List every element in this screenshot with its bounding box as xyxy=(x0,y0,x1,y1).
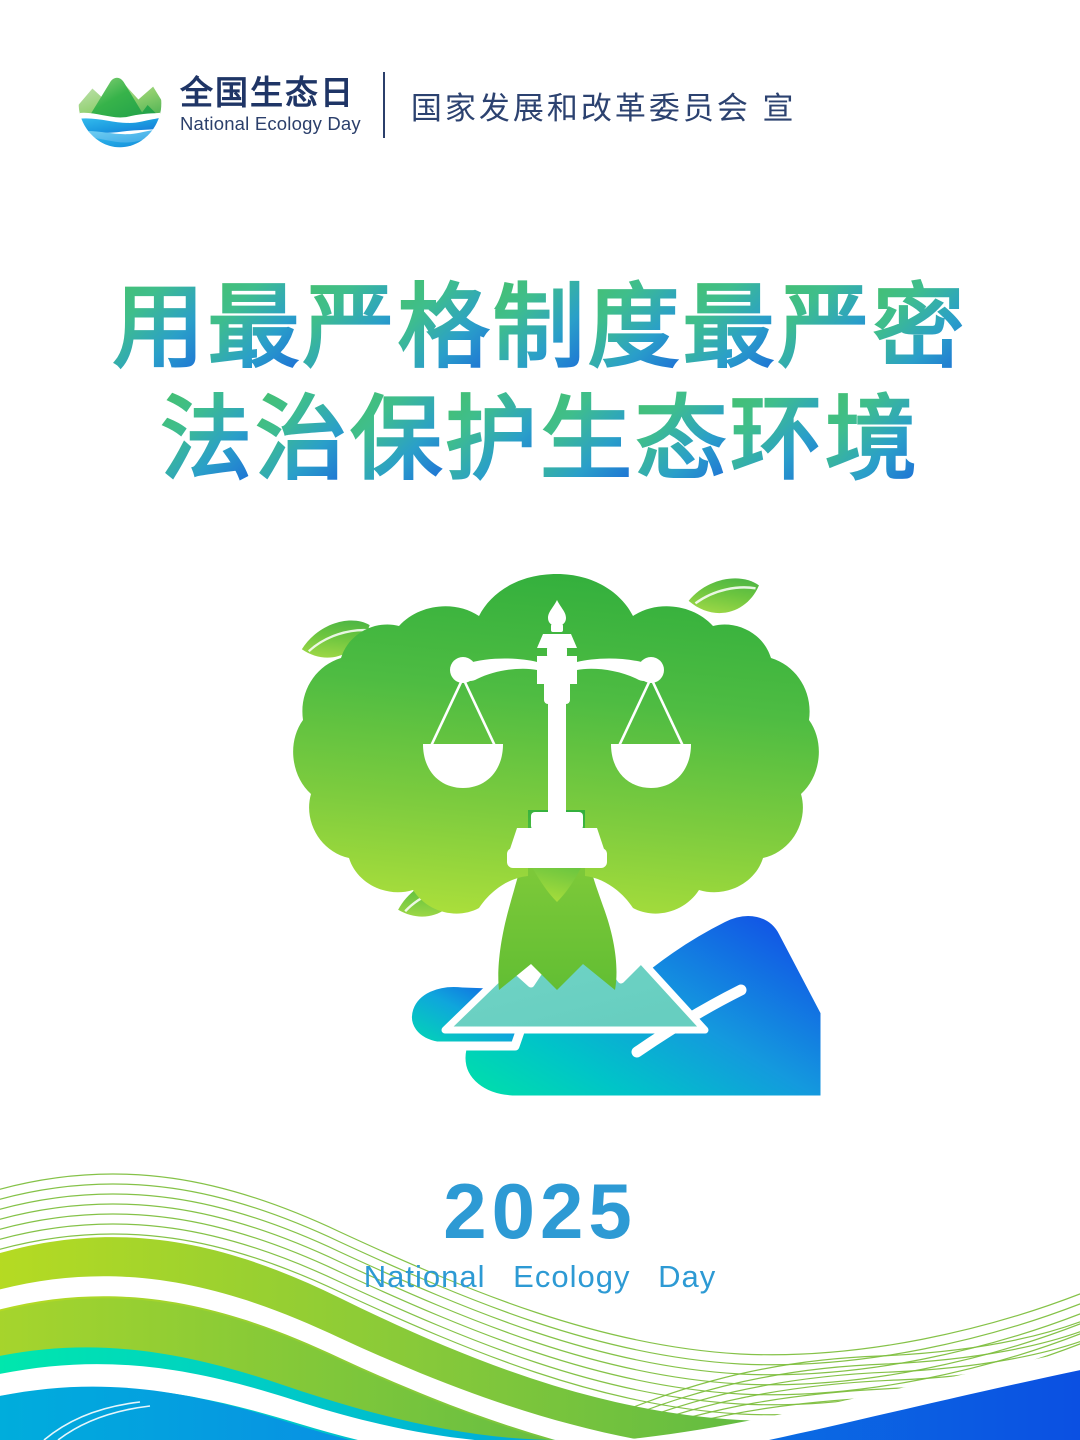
title-char: 态 xyxy=(635,384,730,496)
header-divider xyxy=(383,72,385,138)
title-char: 最 xyxy=(207,272,302,384)
footer-year-block: 2025 National Ecology Day xyxy=(0,1168,1080,1296)
title-line-2: 法治保护生态环境 xyxy=(0,384,1080,496)
poster-canvas: 全国生态日 National Ecology Day 国家发展和改革委员会 宣 … xyxy=(0,0,1080,1440)
title-char: 治 xyxy=(255,384,350,496)
title-char: 保 xyxy=(350,384,445,496)
title-line-2-text: 法治保护生态环境 xyxy=(160,389,920,491)
title-line-1-text: 用最严格制度最严密 xyxy=(112,277,967,379)
tree-scale-hand-illustration xyxy=(285,560,825,1100)
title-char: 密 xyxy=(873,272,968,384)
year-label: 2025 xyxy=(0,1168,1080,1254)
title-char: 最 xyxy=(683,272,778,384)
title-line-1: 用最严格制度最严密 xyxy=(0,272,1080,384)
leaf-top-right xyxy=(686,572,764,621)
title-char: 护 xyxy=(445,384,540,496)
title-char: 严 xyxy=(778,272,873,384)
poster-title: 用最严格制度最严密 法治保护生态环境 xyxy=(0,272,1080,496)
brand-text-group: 全国生态日 National Ecology Day xyxy=(180,66,361,144)
title-char: 生 xyxy=(540,384,635,496)
title-char: 格 xyxy=(397,272,492,384)
title-char: 度 xyxy=(588,272,683,384)
title-char: 制 xyxy=(492,272,587,384)
en-word-2: Ecology xyxy=(513,1259,630,1294)
en-word-1: National xyxy=(364,1259,486,1294)
brand-name-cn: 全国生态日 xyxy=(180,76,361,111)
publisher-label: 国家发展和改革委员会 宣 xyxy=(411,83,797,128)
title-char: 法 xyxy=(160,384,255,496)
year-en-label: National Ecology Day xyxy=(0,1258,1080,1296)
brand-name-en: National Ecology Day xyxy=(180,114,361,133)
title-char: 用 xyxy=(112,272,207,384)
title-char: 境 xyxy=(825,384,920,496)
title-char: 严 xyxy=(302,272,397,384)
mountain-water-logo-icon xyxy=(74,59,166,151)
title-char: 环 xyxy=(730,384,825,496)
poster-header: 全国生态日 National Ecology Day 国家发展和改革委员会 宣 xyxy=(74,55,797,155)
en-word-3: Day xyxy=(658,1259,716,1294)
